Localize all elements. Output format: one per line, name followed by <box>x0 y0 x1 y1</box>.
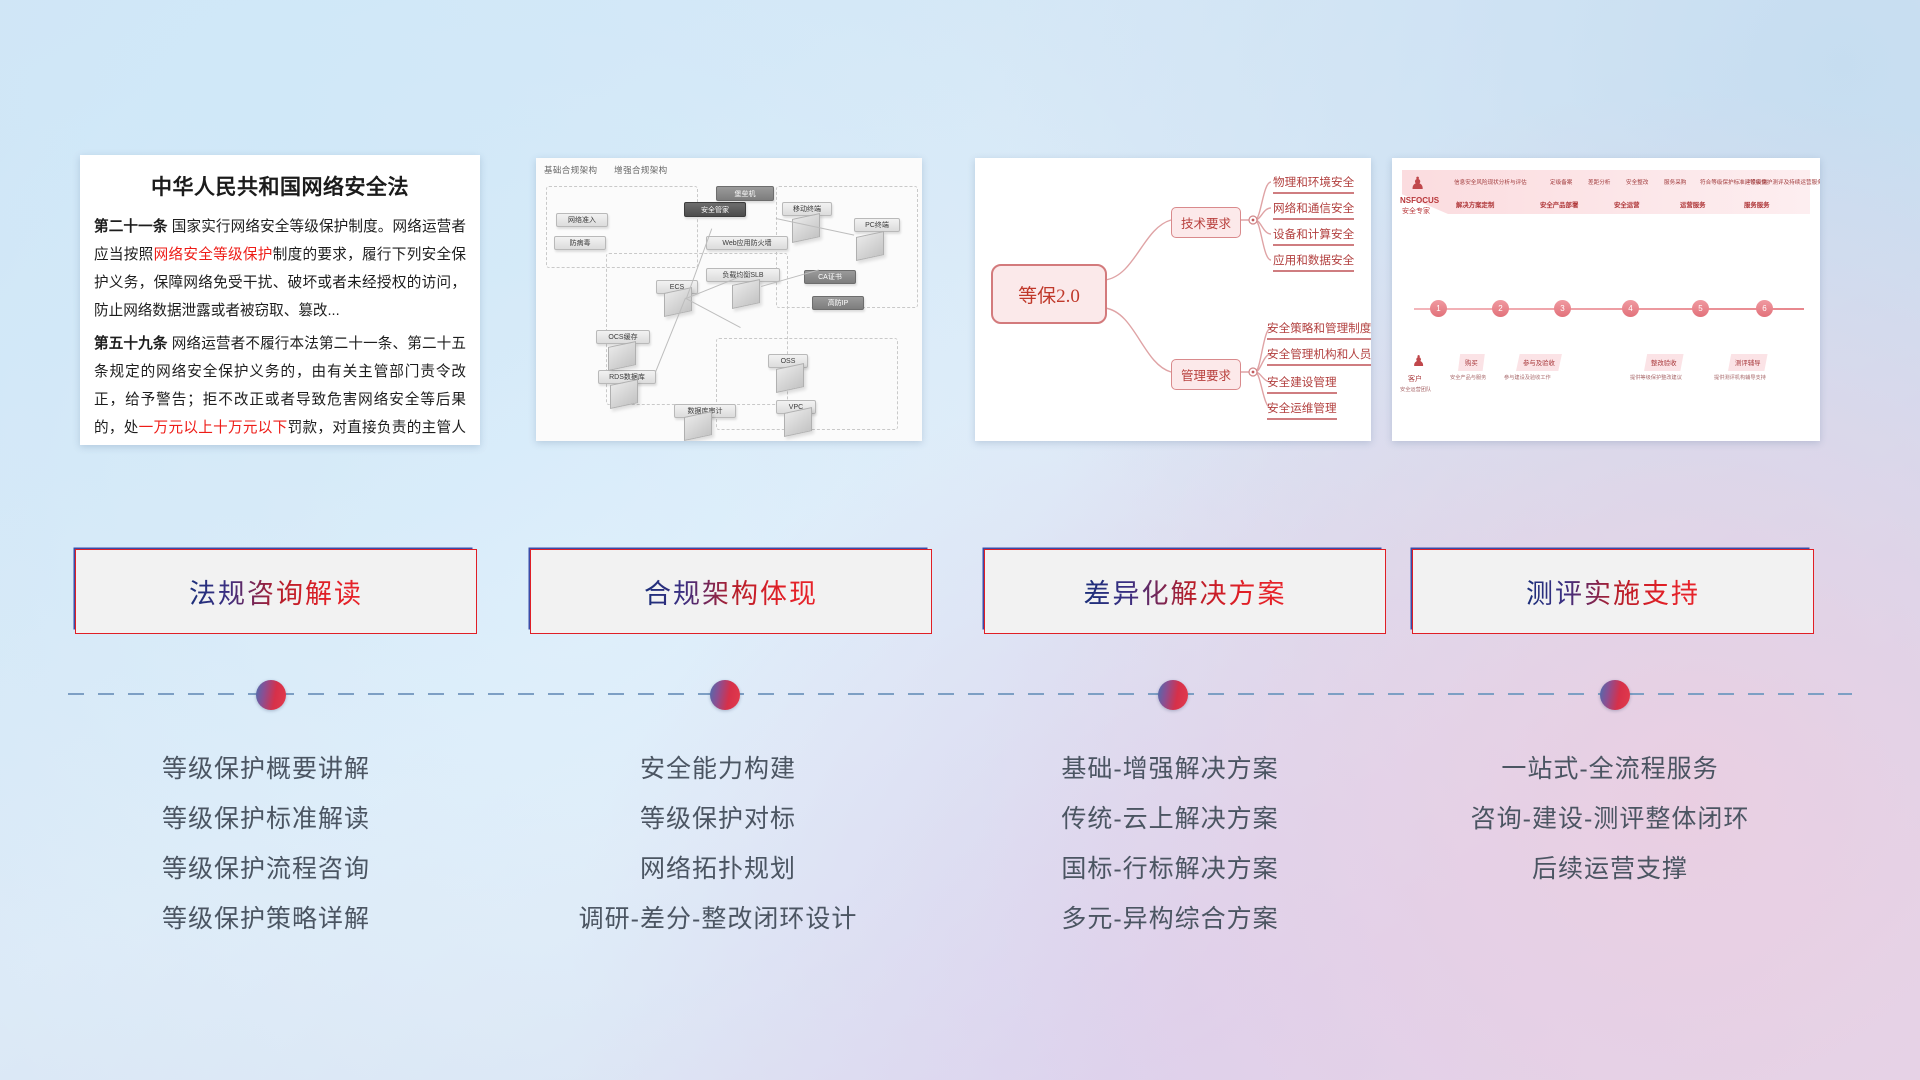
list-item: 等级保护概要讲解 <box>56 744 476 794</box>
roadmap-pill-0: 解决方案定制 <box>1456 200 1494 209</box>
band-tag-0: 信息安全风险现状分析与评估 <box>1454 178 1527 186</box>
list-item: 多元-异构综合方案 <box>960 894 1380 944</box>
card-service-roadmap: ♟ NSFOCUS 安全专家 信息安全风险现状分析与评估 定级备案 差距分析 安… <box>1392 158 1820 441</box>
node-mobile-terminal: 移动终端 <box>782 202 832 216</box>
roadmap-pill-1: 安全产品部署 <box>1540 200 1578 209</box>
roadmap-timeline-line <box>1414 308 1804 310</box>
server-cube-9 <box>684 411 712 441</box>
list-item: 后续运营支撑 <box>1400 844 1820 894</box>
list-item: 咨询-建设-测评整体闭环 <box>1400 794 1820 844</box>
roadmap-chip-1-sub: 参与建设及验收工作 <box>1504 374 1551 381</box>
section-title-box-2[interactable]: 合规架构体现 <box>530 549 932 634</box>
timeline-dot-2 <box>710 680 740 710</box>
section-title-box-1[interactable]: 法规咨询解读 <box>75 549 477 634</box>
list-item: 一站式-全流程服务 <box>1400 744 1820 794</box>
mindmap-branch-technical: 技术要求 <box>1171 207 1241 238</box>
expert-icon: ♟ <box>1410 174 1425 194</box>
roadmap-pill-2: 安全运营 <box>1614 200 1640 209</box>
roadmap-canvas: ♟ NSFOCUS 安全专家 信息安全风险现状分析与评估 定级备案 差距分析 安… <box>1392 158 1820 441</box>
list-item: 传统-云上解决方案 <box>960 794 1380 844</box>
roadmap-step-6: 6 <box>1756 300 1773 317</box>
roadmap-step-4: 4 <box>1622 300 1639 317</box>
node-pc-terminal: PC终端 <box>854 218 900 232</box>
mindmap-leaf-construction-mgmt: 安全建设管理 <box>1267 374 1337 394</box>
mindmap-leaf-physical-env: 物理和环境安全 <box>1273 174 1354 194</box>
node-bastion: 堡垒机 <box>716 186 774 201</box>
section-title-box-3[interactable]: 差异化解决方案 <box>984 549 1386 634</box>
list-item: 等级保护标准解读 <box>56 794 476 844</box>
node-waf: Web应用防火墙 <box>706 236 788 250</box>
timeline-dot-4 <box>1600 680 1630 710</box>
roadmap-chip-0: 购买 <box>1458 354 1485 371</box>
card-mindmap: 等保2.0 技术要求 管理要求 物理和环境安全 网络和通信安全 设备和计算安全 … <box>975 158 1371 441</box>
section-list-1: 等级保护概要讲解 等级保护标准解读 等级保护流程咨询 等级保护策略详解 <box>56 744 476 944</box>
mindmap-leaf-policy-system: 安全策略和管理制度 <box>1267 320 1371 340</box>
architecture-header-right: 增强合规架构 <box>614 165 667 175</box>
band-tag-2: 差距分析 <box>1588 178 1610 186</box>
timeline-dot-3 <box>1158 680 1188 710</box>
roadmap-chip-0-sub: 安全产品与服务 <box>1450 374 1486 381</box>
law-article-59-label: 第五十九条 <box>94 336 168 352</box>
section-list-3: 基础-增强解决方案 传统-云上解决方案 国标-行标解决方案 多元-异构综合方案 <box>960 744 1380 944</box>
mindmap-leaf-app-data: 应用和数据安全 <box>1273 252 1354 272</box>
mindmap-root-node: 等保2.0 <box>991 264 1107 324</box>
roadmap-step-2: 2 <box>1492 300 1509 317</box>
timeline-dashed-line <box>68 693 1852 695</box>
roadmap-brand-sub: 安全专家 <box>1402 206 1430 216</box>
band-tag-4: 服务采购 <box>1664 178 1686 186</box>
architecture-canvas: 基础合规架构 增强合规架构 安全管家 堡垒机 网络准入 防病毒 ECS 负载均衡… <box>536 158 922 441</box>
section-title-4: 测评实施支持 <box>1526 572 1700 611</box>
roadmap-chip-3: 测评辅导 <box>1728 354 1768 371</box>
roadmap-brand: NSFOCUS <box>1400 196 1439 205</box>
node-ocs-cache: OCS缓存 <box>596 330 650 344</box>
roadmap-step-3: 3 <box>1554 300 1571 317</box>
roadmap-step-5: 5 <box>1692 300 1709 317</box>
node-network-access: 网络准入 <box>556 213 608 227</box>
mindmap-leaf-org-personnel: 安全管理机构和人员 <box>1267 346 1371 366</box>
list-item: 安全能力构建 <box>508 744 928 794</box>
list-item: 调研-差分-整改闭环设计 <box>508 894 928 944</box>
server-cube-8 <box>784 407 812 437</box>
mindmap-leaf-network-comm: 网络和通信安全 <box>1273 200 1354 220</box>
list-item: 基础-增强解决方案 <box>960 744 1380 794</box>
section-list-2: 安全能力构建 等级保护对标 网络拓扑规划 调研-差分-整改闭环设计 <box>508 744 928 944</box>
list-item: 国标-行标解决方案 <box>960 844 1380 894</box>
band-tag-1: 定级备案 <box>1550 178 1572 186</box>
node-anti-ddos: 高防IP <box>812 296 864 310</box>
list-item: 等级保护流程咨询 <box>56 844 476 894</box>
mindmap-branch-management: 管理要求 <box>1171 359 1241 390</box>
node-antivirus: 防病毒 <box>554 236 606 250</box>
roadmap-customer-label: 客户 <box>1408 374 1422 384</box>
list-item: 网络拓扑规划 <box>508 844 928 894</box>
section-list-4: 一站式-全流程服务 咨询-建设-测评整体闭环 后续运营支撑 <box>1400 744 1820 894</box>
architecture-header-left: 基础合规架构 <box>544 165 597 175</box>
architecture-header: 基础合规架构 增强合规架构 <box>544 164 682 176</box>
list-item: 等级保护对标 <box>508 794 928 844</box>
customer-icon: ♟ <box>1412 352 1425 370</box>
card-architecture-diagram: 基础合规架构 增强合规架构 安全管家 堡垒机 网络准入 防病毒 ECS 负载均衡… <box>536 158 922 441</box>
card-law-text: 中华人民共和国网络安全法 第二十一条 国家实行网络安全等级保护制度。网络运营者应… <box>80 155 480 445</box>
law-article-21-highlight: 网络安全等级保护 <box>154 247 273 263</box>
mindmap-leaf-ops-mgmt: 安全运维管理 <box>1267 400 1337 420</box>
law-article-21: 第二十一条 国家实行网络安全等级保护制度。网络运营者应当按照网络安全等级保护制度… <box>94 213 466 325</box>
roadmap-customer-sub: 安全运营团队 <box>1400 386 1431 393</box>
roadmap-step-1: 1 <box>1430 300 1447 317</box>
law-title: 中华人民共和国网络安全法 <box>80 171 480 201</box>
section-title-3: 差异化解决方案 <box>1084 572 1287 611</box>
law-article-59-highlight-1: 一万元以上十万元以下 <box>139 420 288 436</box>
roadmap-chip-3-sub: 提供测评机构辅导支持 <box>1714 374 1766 381</box>
mindmap-leaf-device-compute: 设备和计算安全 <box>1273 226 1354 246</box>
roadmap-chip-2: 整改验收 <box>1644 354 1684 371</box>
band-tag-6: 等级保护测评及持续运营服务 <box>1750 178 1820 186</box>
roadmap-pill-3: 运营服务 <box>1680 200 1706 209</box>
section-title-1: 法规咨询解读 <box>189 572 363 611</box>
slide-root: 中华人民共和国网络安全法 第二十一条 国家实行网络安全等级保护制度。网络运营者应… <box>0 0 1920 1080</box>
band-tag-3: 安全整改 <box>1626 178 1648 186</box>
list-item: 等级保护策略详解 <box>56 894 476 944</box>
mindmap-canvas: 等保2.0 技术要求 管理要求 物理和环境安全 网络和通信安全 设备和计算安全 … <box>975 158 1371 441</box>
section-title-2: 合规架构体现 <box>644 572 818 611</box>
law-body: 第二十一条 国家实行网络安全等级保护制度。网络运营者应当按照网络安全等级保护制度… <box>80 213 480 445</box>
law-article-21-label: 第二十一条 <box>94 219 168 235</box>
law-article-59: 第五十九条 网络运营者不履行本法第二十一条、第二十五条规定的网络安全保护义务的，… <box>94 330 466 445</box>
roadmap-pill-4: 服务服务 <box>1744 200 1770 209</box>
section-title-box-4[interactable]: 测评实施支持 <box>1412 549 1814 634</box>
timeline-dot-1 <box>256 680 286 710</box>
node-security-admin: 安全管家 <box>684 202 746 217</box>
roadmap-chip-2-sub: 提供等级保护整改建议 <box>1630 374 1682 381</box>
roadmap-chip-1: 参与及验收 <box>1516 354 1562 371</box>
